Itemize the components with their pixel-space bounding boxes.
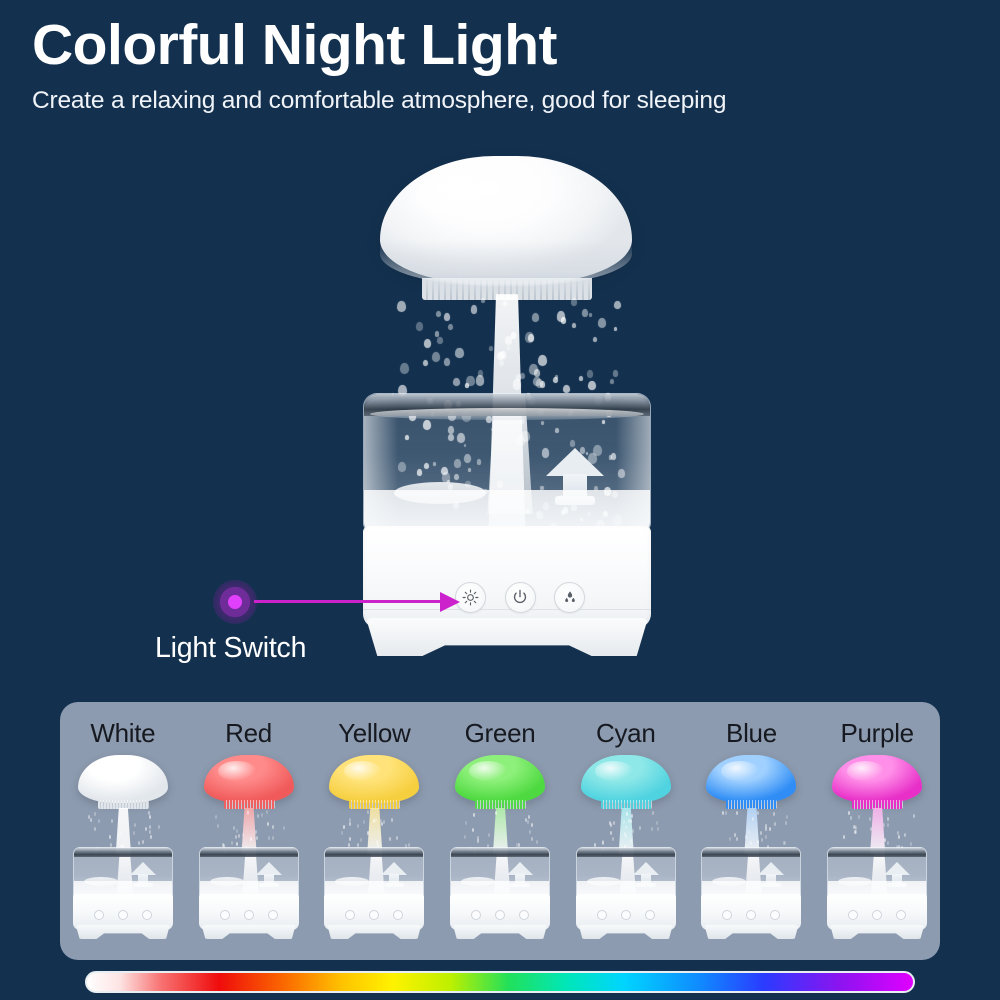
mini-tank-rim xyxy=(325,848,423,857)
water-droplet xyxy=(553,377,558,383)
mini-power-button[interactable] xyxy=(872,910,882,920)
mist-button[interactable] xyxy=(554,582,585,613)
mini-light-button[interactable] xyxy=(848,910,858,920)
mini-mist-button[interactable] xyxy=(645,910,655,920)
water-droplet xyxy=(489,346,493,351)
mini-tank-rim xyxy=(200,848,298,857)
mini-water-droplet xyxy=(109,835,111,839)
mini-water-droplet xyxy=(626,812,628,816)
mini-water-droplet xyxy=(238,834,240,838)
mini-tank-rim xyxy=(702,848,800,857)
page-subtitle: Create a relaxing and comfortable atmosp… xyxy=(32,87,962,115)
mini-foot xyxy=(579,925,673,939)
mini-water-droplet xyxy=(94,812,96,816)
color-swatch-label: Yellow xyxy=(338,718,410,749)
mini-water-droplet xyxy=(536,840,538,844)
mini-control-panel xyxy=(848,909,906,920)
mini-water-droplet xyxy=(464,835,466,839)
mini-water-droplet xyxy=(98,819,100,823)
mini-water-droplet xyxy=(729,837,731,841)
water-droplet xyxy=(593,337,597,342)
mini-humidifier xyxy=(67,755,179,940)
mini-foot xyxy=(830,925,924,939)
mini-water-tank xyxy=(73,847,173,899)
mini-water-droplet xyxy=(884,838,886,842)
mini-water-droplet xyxy=(367,810,369,814)
mini-gills xyxy=(852,800,903,809)
mini-water-droplet xyxy=(843,835,845,839)
mini-mushroom-cap xyxy=(78,755,168,803)
mini-water-droplet xyxy=(120,831,122,835)
mini-mushroom-cap xyxy=(455,755,545,803)
mini-foot xyxy=(76,925,170,939)
water-droplet xyxy=(614,327,617,331)
mini-control-panel xyxy=(220,909,278,920)
water-droplet xyxy=(435,331,439,336)
mini-water-droplet xyxy=(624,832,626,836)
mini-water-droplet xyxy=(757,840,759,844)
mini-water-droplet xyxy=(495,811,497,815)
mini-water-droplet xyxy=(748,830,750,834)
mini-humidifier xyxy=(193,755,305,940)
mini-water-droplet xyxy=(528,815,530,819)
mini-water-droplet xyxy=(268,836,270,840)
mini-water-droplet xyxy=(883,823,885,827)
mini-water-droplet xyxy=(910,842,912,846)
light-switch-marker xyxy=(213,580,257,624)
mini-mist-button[interactable] xyxy=(393,910,403,920)
page-title: Colorful Night Light xyxy=(32,16,962,76)
mini-water-droplet xyxy=(256,836,258,840)
mini-power-button[interactable] xyxy=(118,910,128,920)
color-swatch-label: Cyan xyxy=(596,718,656,749)
mini-water-droplet xyxy=(765,835,767,839)
power-button[interactable] xyxy=(505,582,536,613)
water-droplet xyxy=(432,352,440,362)
header: Colorful Night Light Create a relaxing a… xyxy=(32,16,962,115)
mini-water-droplet xyxy=(773,812,775,816)
mini-mist-button[interactable] xyxy=(770,910,780,920)
mini-water-droplet xyxy=(760,831,762,835)
mini-power-button[interactable] xyxy=(746,910,756,920)
mini-gills xyxy=(98,800,149,809)
mini-water-droplet xyxy=(602,841,604,845)
mini-power-button[interactable] xyxy=(369,910,379,920)
mini-water-droplet xyxy=(343,825,345,829)
mini-water-droplet xyxy=(283,826,285,830)
mini-water-droplet xyxy=(750,841,752,845)
color-swatch-green[interactable]: Green xyxy=(437,702,563,960)
mini-control-panel xyxy=(94,909,152,920)
color-swatch-purple[interactable]: Purple xyxy=(814,702,940,960)
mini-water-droplet xyxy=(472,828,474,832)
mini-water-droplet xyxy=(88,815,90,819)
mini-water-droplet xyxy=(531,837,533,841)
mini-water-droplet xyxy=(149,825,151,829)
water-droplet xyxy=(436,311,441,317)
mini-mushroom-cap xyxy=(204,755,294,803)
mini-water-droplet xyxy=(255,830,257,834)
mini-water-droplet xyxy=(272,836,274,840)
mini-water-droplet xyxy=(913,814,915,818)
mini-water-droplet xyxy=(850,816,852,820)
mini-water-droplet xyxy=(887,817,889,821)
mini-water-droplet xyxy=(222,843,224,847)
mini-water-droplet xyxy=(531,823,533,827)
mini-mushroom-cap xyxy=(706,755,796,803)
mini-water-droplet xyxy=(349,837,351,841)
mini-water-droplet xyxy=(736,837,738,841)
water-droplet xyxy=(528,334,534,342)
mini-water-droplet xyxy=(145,827,147,831)
water-droplet xyxy=(481,298,485,303)
mini-water-tank xyxy=(827,847,927,899)
mini-control-panel xyxy=(597,909,655,920)
color-swatch-yellow[interactable]: Yellow xyxy=(311,702,437,960)
water-droplet xyxy=(397,301,406,312)
mini-water-droplet xyxy=(272,825,274,829)
mini-water-droplet xyxy=(94,827,96,831)
mini-water-droplet xyxy=(725,811,727,815)
power-icon xyxy=(512,589,528,605)
mini-humidifier xyxy=(695,755,807,940)
mini-water-droplet xyxy=(217,824,219,828)
callout-arrow-icon xyxy=(440,592,460,612)
mini-water-droplet xyxy=(236,842,238,846)
color-swatch-label: Purple xyxy=(840,718,913,749)
mini-water-droplet xyxy=(870,827,872,831)
color-swatch-panel: WhiteRedYellowGreenCyanBluePurple xyxy=(60,702,940,960)
mini-mist-button[interactable] xyxy=(896,910,906,920)
mini-water-droplet xyxy=(396,836,398,840)
color-swatch-red[interactable]: Red xyxy=(186,702,312,960)
mini-light-button[interactable] xyxy=(345,910,355,920)
mini-water-droplet xyxy=(242,833,244,837)
water-droplet xyxy=(466,376,474,387)
mini-light-button[interactable] xyxy=(220,910,230,920)
mini-water-droplet xyxy=(855,830,857,834)
mini-water-droplet xyxy=(236,829,238,833)
mini-foot xyxy=(327,925,421,939)
water-droplet xyxy=(610,379,614,384)
mini-water-droplet xyxy=(898,835,900,839)
color-swatch-label: Blue xyxy=(726,718,777,749)
mini-water-droplet xyxy=(363,820,365,824)
mini-power-button[interactable] xyxy=(244,910,254,920)
water-droplet xyxy=(579,376,583,381)
color-swatch-white[interactable]: White xyxy=(60,702,186,960)
water-droplet xyxy=(572,323,576,328)
mini-water-tank xyxy=(576,847,676,899)
mini-water-droplet xyxy=(215,815,217,819)
mini-water-droplet xyxy=(651,827,653,831)
light-switch-label: Light Switch xyxy=(155,632,306,665)
mini-water-droplet xyxy=(858,815,860,819)
mini-water-droplet xyxy=(247,810,249,814)
rainbow-gradient-bar[interactable] xyxy=(85,971,915,993)
mini-humidifier xyxy=(318,755,430,940)
mini-water-droplet xyxy=(373,819,375,823)
mini-control-panel xyxy=(722,909,780,920)
mini-water-droplet xyxy=(631,814,633,818)
color-swatch-cyan[interactable]: Cyan xyxy=(563,702,689,960)
mini-water-droplet xyxy=(784,841,786,845)
mini-water-droplet xyxy=(367,831,369,835)
mini-mist-button[interactable] xyxy=(142,910,152,920)
mini-water-droplet xyxy=(612,837,614,841)
water-droplet xyxy=(582,309,588,317)
mini-water-droplet xyxy=(887,841,889,845)
water-droplet xyxy=(513,379,522,390)
color-swatch-label: Red xyxy=(225,718,272,749)
mini-water-droplet xyxy=(757,811,759,815)
mini-water-droplet xyxy=(389,837,391,841)
mini-tank-rim xyxy=(451,848,549,857)
mini-water-droplet xyxy=(383,820,385,824)
mini-water-droplet xyxy=(657,827,659,831)
mini-water-droplet xyxy=(261,813,263,817)
mini-water-droplet xyxy=(150,835,152,839)
mini-water-droplet xyxy=(785,821,787,825)
water-droplet xyxy=(534,369,540,376)
mini-light-button[interactable] xyxy=(94,910,104,920)
water-droplet xyxy=(511,332,516,338)
mini-water-droplet xyxy=(869,817,871,821)
mini-water-droplet xyxy=(257,814,259,818)
mini-gills xyxy=(224,800,275,809)
mini-water-droplet xyxy=(138,841,140,845)
mini-water-droplet xyxy=(632,829,634,833)
water-droplet xyxy=(423,360,428,366)
mini-water-droplet xyxy=(267,822,269,826)
mini-water-droplet xyxy=(786,815,788,819)
mini-mist-button[interactable] xyxy=(519,910,529,920)
mini-water-droplet xyxy=(233,826,235,830)
water-droplet xyxy=(507,346,510,350)
water-droplet xyxy=(589,313,592,317)
water-droplet xyxy=(614,301,621,309)
mini-water-droplet xyxy=(769,827,771,831)
water-droplet xyxy=(499,360,504,366)
mini-light-button[interactable] xyxy=(722,910,732,920)
water-droplet xyxy=(520,373,525,379)
mini-tank-rim xyxy=(74,848,172,857)
water-tank xyxy=(363,393,651,533)
mini-foot xyxy=(202,925,296,939)
mini-water-droplet xyxy=(148,811,150,815)
mini-water-droplet xyxy=(111,819,113,823)
mini-gills xyxy=(349,800,400,809)
mini-water-droplet xyxy=(630,839,632,843)
mini-control-panel xyxy=(471,909,529,920)
mini-water-droplet xyxy=(473,813,475,817)
water-droplet xyxy=(444,313,450,321)
house-roof-icon xyxy=(546,448,604,476)
water-droplet xyxy=(416,322,423,331)
water-drops-icon xyxy=(562,589,578,605)
mini-light-button[interactable] xyxy=(597,910,607,920)
color-swatch-label: White xyxy=(90,718,155,749)
mini-water-droplet xyxy=(134,823,136,827)
water-droplet xyxy=(471,305,478,313)
mini-mushroom-cap xyxy=(832,755,922,803)
water-droplet xyxy=(503,301,507,306)
mini-water-droplet xyxy=(623,820,625,824)
mini-water-droplet xyxy=(477,839,479,843)
mini-water-droplet xyxy=(133,831,135,835)
mini-water-droplet xyxy=(529,830,531,834)
water-droplet xyxy=(532,313,539,322)
water-droplet xyxy=(536,379,543,388)
mini-water-droplet xyxy=(527,820,529,824)
water-droplet xyxy=(571,298,577,305)
mini-water-droplet xyxy=(465,821,467,825)
mini-water-droplet xyxy=(380,819,382,823)
callout-line xyxy=(254,600,448,603)
mini-water-droplet xyxy=(752,817,754,821)
mini-control-panel xyxy=(345,909,403,920)
mini-water-droplet xyxy=(235,835,237,839)
mini-water-tank xyxy=(324,847,424,899)
mini-water-droplet xyxy=(357,824,359,828)
mini-gills xyxy=(601,800,652,809)
color-swatch-blue[interactable]: Blue xyxy=(689,702,815,960)
mini-water-droplet xyxy=(488,833,490,837)
color-swatch-label: Green xyxy=(465,718,536,749)
mini-water-droplet xyxy=(887,823,889,827)
mini-power-button[interactable] xyxy=(621,910,631,920)
mini-tank-rim xyxy=(577,848,675,857)
water-droplet xyxy=(400,363,408,373)
mini-gills xyxy=(475,800,526,809)
tank-rim-inner xyxy=(370,408,644,420)
water-droplet xyxy=(613,370,618,376)
mini-water-droplet xyxy=(774,822,776,826)
water-droplet xyxy=(500,351,506,359)
mini-power-button[interactable] xyxy=(495,910,505,920)
mini-water-droplet xyxy=(266,810,268,814)
mini-water-droplet xyxy=(761,838,763,842)
water-droplet xyxy=(455,348,464,359)
humidifier-foot xyxy=(366,618,648,656)
mini-water-droplet xyxy=(341,831,343,835)
mini-water-droplet xyxy=(142,840,144,844)
mini-water-droplet xyxy=(349,822,351,826)
mini-water-droplet xyxy=(639,826,641,830)
mini-water-droplet xyxy=(376,840,378,844)
sun-icon xyxy=(462,589,479,606)
mini-water-droplet xyxy=(745,835,747,839)
mini-humidifier xyxy=(444,755,556,940)
mini-water-droplet xyxy=(625,825,627,829)
mini-water-droplet xyxy=(360,838,362,842)
mini-water-droplet xyxy=(652,811,654,815)
mini-water-droplet xyxy=(250,837,252,841)
mini-light-button[interactable] xyxy=(471,910,481,920)
mini-mushroom-cap xyxy=(329,755,419,803)
mini-water-tank xyxy=(450,847,550,899)
mini-foot xyxy=(453,925,547,939)
control-panel xyxy=(455,580,585,614)
mini-water-droplet xyxy=(231,841,233,845)
water-droplet xyxy=(588,381,596,391)
mini-water-droplet xyxy=(149,815,151,819)
mini-water-droplet xyxy=(149,830,151,834)
mini-humidifier xyxy=(821,755,933,940)
mini-humidifier xyxy=(570,755,682,940)
mini-water-droplet xyxy=(848,811,850,815)
mini-water-droplet xyxy=(904,833,906,837)
water-droplet xyxy=(453,378,460,387)
mini-water-tank xyxy=(199,847,299,899)
mini-water-droplet xyxy=(656,821,658,825)
water-droplet xyxy=(538,355,546,365)
mini-water-tank xyxy=(701,847,801,899)
water-droplet xyxy=(587,370,593,378)
mini-water-droplet xyxy=(158,825,160,829)
mini-water-droplet xyxy=(628,819,630,823)
mini-water-droplet xyxy=(722,811,724,815)
mini-gills xyxy=(726,800,777,809)
hero-product-image xyxy=(330,148,680,678)
water-droplet xyxy=(424,339,431,348)
mini-tank-rim xyxy=(828,848,926,857)
water-droplet xyxy=(557,311,566,322)
mini-mist-button[interactable] xyxy=(268,910,278,920)
mini-water-droplet xyxy=(613,821,615,825)
mini-water-droplet xyxy=(765,824,767,828)
mini-water-droplet xyxy=(610,831,612,835)
water-droplet xyxy=(448,324,453,330)
mini-water-droplet xyxy=(736,811,738,815)
mini-water-droplet xyxy=(391,818,393,822)
mini-mushroom-cap xyxy=(581,755,671,803)
water-droplet xyxy=(437,337,443,344)
water-droplet xyxy=(598,318,606,328)
water-droplet xyxy=(444,358,450,366)
mini-foot xyxy=(704,925,798,939)
